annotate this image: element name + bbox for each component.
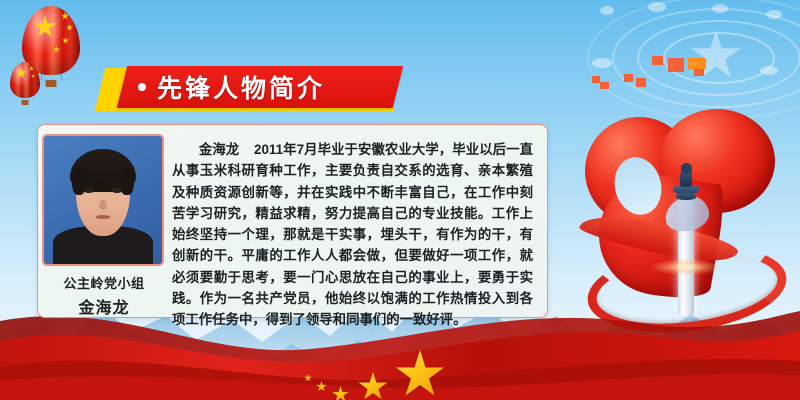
profile-card: 公主岭党小组 金海龙 金海龙2011年7月毕业于安徽农业大学，毕业以后一直从事玉… [37,124,548,318]
bio-paragraph: 金海龙2011年7月毕业于安徽农业大学，毕业以后一直从事玉米科研育种工作，主要负… [166,131,547,317]
cloud-dot [648,2,666,12]
column-beast-icon [681,163,692,173]
bird-icon [694,68,704,76]
caption-organization: 公主岭党小组 [42,273,166,292]
cloud-dot [592,58,612,68]
balloon-envelope [10,62,40,98]
bird-icon [652,56,663,65]
bullet-dot-icon [138,83,146,91]
balloon-star-icon [15,67,27,79]
red-silk-heart [585,105,800,320]
balloon-basket [46,80,57,87]
photo-nose [99,200,106,210]
bird-icon [624,74,633,82]
bird-icon [600,82,609,89]
column-light-glow [651,259,721,275]
balloon-star-icon [66,24,73,31]
page-title: 先锋人物简介 [157,69,325,105]
balloon-rope [61,70,62,80]
balloon-star-icon [33,15,57,39]
balloon-star-icon [31,74,35,78]
bird-icon [688,58,706,69]
bio-text: 2011年7月毕业于安徽农业大学，毕业以后一直从事玉米科研育种工作，主要负责自交… [172,142,533,327]
bio-person-name: 金海龙 [199,142,239,157]
portrait-photo [42,134,164,266]
hot-air-balloon-small [10,62,40,106]
huabiao-column [669,163,703,315]
bird-icon [668,58,684,72]
photo-eye [84,188,93,192]
photo-caption: 公主岭党小组 金海龙 [42,273,166,318]
balloon-star-icon [61,12,69,20]
photo-mouth [96,215,110,218]
photo-eye [112,188,121,192]
poster-canvas: 先锋人物简介 公主岭党小组 金海龙 [0,0,800,400]
cloud-dot [766,10,782,19]
balloon-basket [22,100,29,105]
balloon-star-icon [53,46,60,53]
column-plate [676,193,696,200]
photo-block: 公主岭党小组 金海龙 [38,131,166,317]
cloud-dot [760,66,778,75]
bird-icon [592,76,600,83]
bird-icon [636,78,646,87]
caption-name: 金海龙 [42,294,166,318]
balloon-rope [41,70,42,80]
banner-text-wrap: 先锋人物简介 [138,66,325,108]
cloud-dot [600,6,614,15]
balloon-star-icon [62,37,69,44]
cloud-dot [712,4,728,13]
balloon-star-icon [29,66,34,71]
